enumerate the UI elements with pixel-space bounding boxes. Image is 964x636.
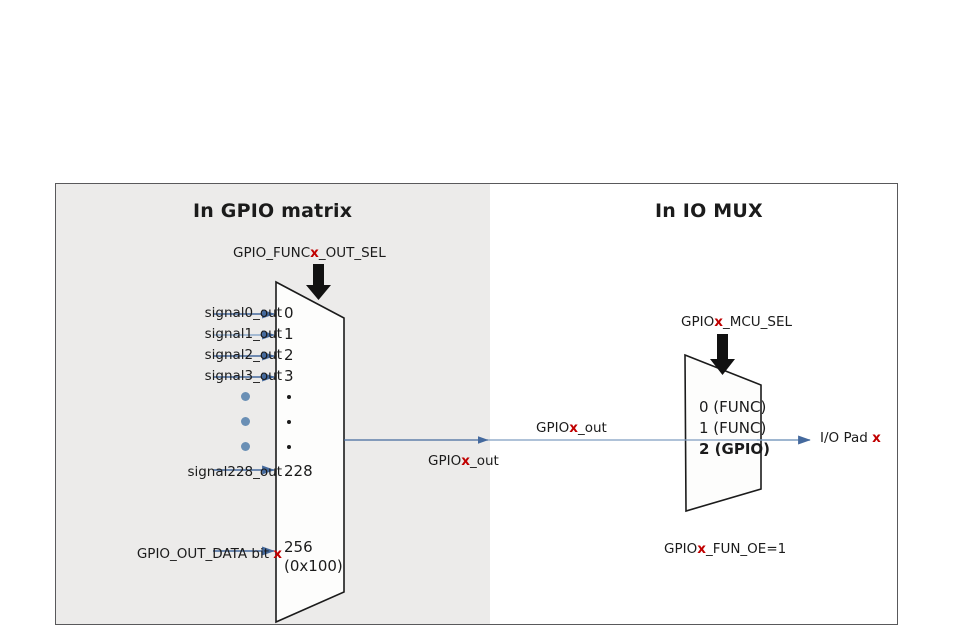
io-pad-x: x [872, 430, 881, 446]
ellipsis-dot-black-3 [287, 445, 291, 449]
signal0-out-label: signal0_out [132, 305, 282, 321]
gpio-matrix-port-1: 1 [284, 325, 294, 343]
gpio-mcu-sel-prefix: GPIO [681, 314, 714, 330]
signal1-out-label: signal1_out [132, 326, 282, 342]
io-mux-port-0-func: 0 (FUNC) [699, 398, 766, 416]
io-mux-port-2-gpio: 2 (GPIO) [699, 440, 770, 458]
gpio-fun-oe-prefix: GPIO [664, 541, 697, 557]
gpio-mcu-sel-label: GPIOx_MCU_SEL [681, 314, 792, 330]
gpio-out-data-label: GPIO_OUT_DATA bit x [47, 546, 282, 562]
gpio-out-upper-prefix: GPIO [536, 420, 569, 436]
ellipsis-dot-blue-3 [241, 442, 250, 451]
ellipsis-dot-blue-2 [241, 417, 250, 426]
diagram-canvas: In GPIO matrix In IO MUX GPIO_FUNCx_OUT_… [0, 0, 964, 636]
io-mux-port-1-func: 1 (FUNC) [699, 419, 766, 437]
gpio-matrix-port-2: 2 [284, 346, 294, 364]
signal2-out-label: signal2_out [132, 347, 282, 363]
gpio-out-upper-x: x [569, 420, 578, 436]
gpio-out-lower-prefix: GPIO [428, 453, 461, 469]
gpio-fun-oe-suffix: _FUN_OE=1 [706, 541, 786, 557]
gpio-func-out-sel-suffix: _OUT_SEL [319, 245, 386, 261]
io-mux-title: In IO MUX [655, 200, 763, 222]
gpio-matrix-port-256-line2: (0x100) [284, 557, 343, 576]
ellipsis-dot-black-2 [287, 420, 291, 424]
ellipsis-dot-black-1 [287, 395, 291, 399]
gpio-func-out-sel-x: x [310, 245, 319, 261]
gpio-matrix-port-228: 228 [284, 462, 313, 480]
gpio-func-out-sel-label: GPIO_FUNCx_OUT_SEL [233, 245, 386, 261]
gpio-out-bus-label-upper: GPIOx_out [536, 420, 607, 436]
gpio-fun-oe-label: GPIOx_FUN_OE=1 [664, 541, 786, 557]
gpio-mcu-sel-x: x [714, 314, 723, 330]
gpio-matrix-port-3: 3 [284, 367, 294, 385]
signal228-out-label: signal228_out [112, 464, 282, 480]
gpio-out-data-prefix: GPIO_OUT_DATA bit [137, 546, 273, 562]
gpio-matrix-port-0: 0 [284, 304, 294, 322]
gpio-matrix-port-256: 256(0x100) [284, 538, 343, 576]
io-pad-label: I/O Pad x [820, 430, 881, 446]
gpio-out-data-x: x [273, 546, 282, 562]
io-pad-text: I/O Pad [820, 430, 872, 446]
gpio-func-out-sel-arrow [306, 264, 331, 300]
ellipsis-dot-blue-1 [241, 392, 250, 401]
gpio-out-bus-label-lower: GPIOx_out [428, 453, 499, 469]
gpio-matrix-title: In GPIO matrix [193, 200, 352, 222]
gpio-out-lower-suffix: _out [470, 453, 499, 469]
gpio-out-lower-x: x [461, 453, 470, 469]
gpio-func-out-sel-prefix: GPIO_FUNC [233, 245, 310, 261]
signal3-out-label: signal3_out [132, 368, 282, 384]
gpio-mcu-sel-suffix: _MCU_SEL [723, 314, 792, 330]
gpio-fun-oe-x: x [697, 541, 706, 557]
gpio-matrix-port-256-line1: 256 [284, 538, 343, 557]
gpio-out-upper-suffix: _out [578, 420, 607, 436]
